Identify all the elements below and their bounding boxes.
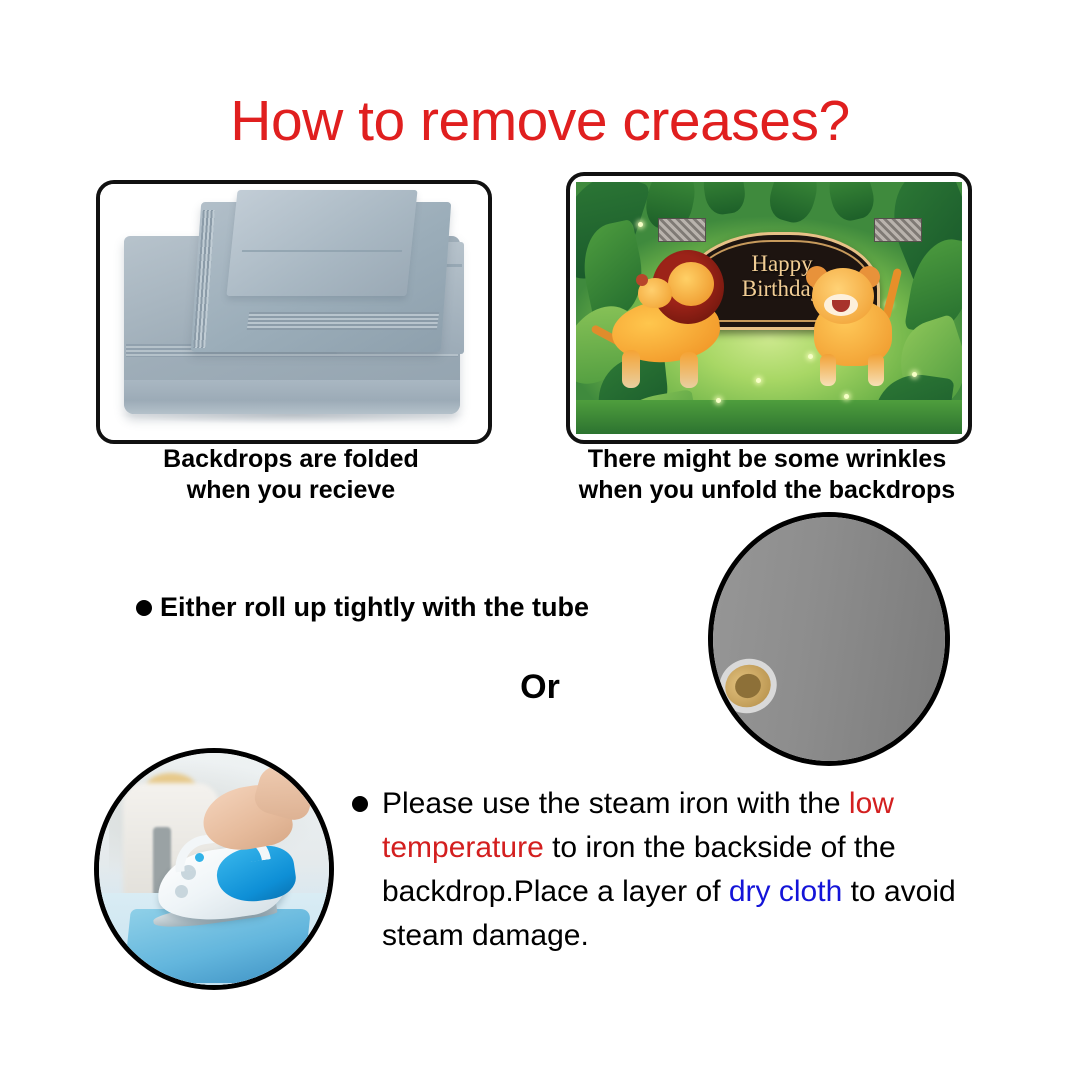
rolled-gray-backdrop [708,512,950,766]
roll-step-text: Either roll up tightly with the tube [160,592,589,623]
folded-backdrop-caption: Backdrops are folded when you recieve [96,444,486,506]
sparkle-icon [638,222,643,227]
iron-step-bullet-icon [352,796,368,812]
iron-knob [175,885,188,898]
adult-lion-leg [680,352,698,388]
iron-step-text: Please use the steam iron with the low t… [382,782,982,958]
sparkle-icon [808,354,813,359]
cub-on-back-ear [636,274,648,286]
wrinkled-backdrop-caption: There might be some wrinkles when you un… [552,444,982,506]
roll-step-bullet-icon [136,600,152,616]
sparkle-icon [716,398,721,403]
lion-cub-leg [820,354,836,386]
sheet-top-pillowcase [226,190,417,296]
adult-lion-leg [622,350,640,388]
sparkle-icon [844,394,849,399]
steam-iron-on-cloth-photo [94,748,334,990]
sign-bracket-right [874,218,922,242]
iron-step-segment-1: Please use the steam iron with the [382,787,849,820]
folded-backdrop-caption-line1: Backdrops are folded [96,444,486,475]
sheet-stack-fold-edge [247,312,440,330]
or-divider-label: Or [0,668,1080,707]
folded-backdrop-sheets-photo [100,184,488,440]
folded-backdrop-photo-frame [96,180,492,444]
iron-step-highlight-dry-cloth: dry cloth [729,875,842,908]
sparkle-icon [756,378,761,383]
lion-cub-leg [868,354,884,386]
sheet-bottom-lip [124,380,460,414]
wrinkled-backdrop-caption-line1: There might be some wrinkles [552,444,982,475]
wrinkled-backdrop-caption-line2: when you unfold the backdrops [552,475,982,506]
sheet-top-seam [242,250,402,252]
wrinkled-backdrop-photo-frame: Happy Birthday [566,172,972,444]
page-title: How to remove creases? [0,88,1080,154]
lion-king-happy-birthday-backdrop-photo: Happy Birthday [576,182,962,434]
folded-backdrop-caption-line2: when you recieve [96,475,486,506]
rolled-backdrop-on-tube-photo [708,512,950,766]
adult-lion-head [668,262,714,306]
sparkle-icon [912,372,917,377]
sign-bracket-left [658,218,706,242]
